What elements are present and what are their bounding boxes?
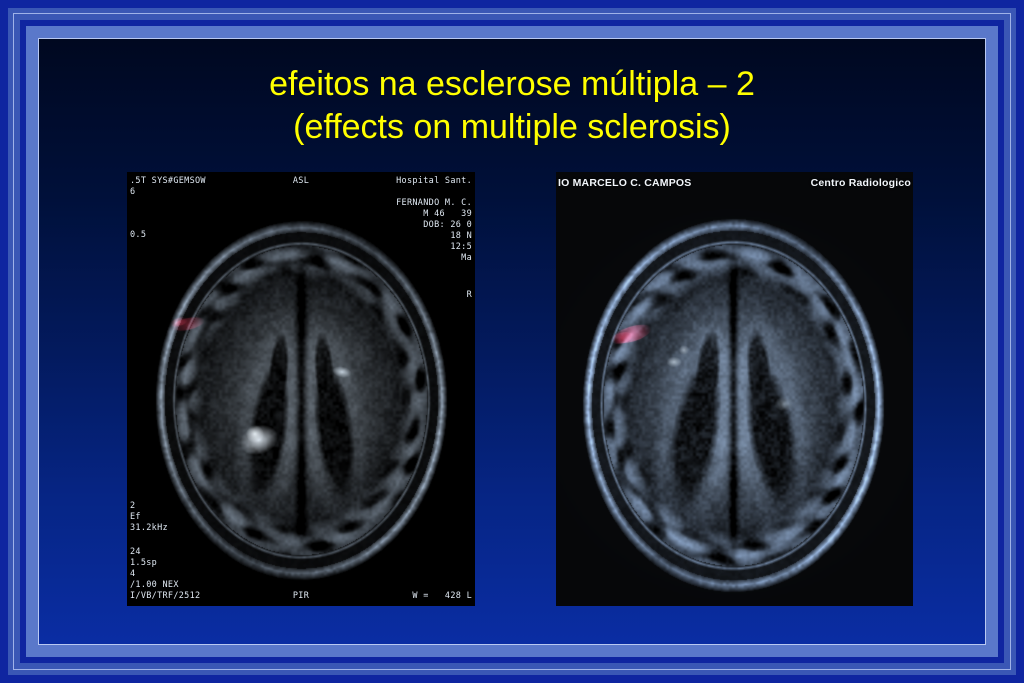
mri-right-canvas (556, 172, 913, 606)
mri-image-left: .5T SYS#GEMSOW6 ASL Hospital Sant.FERNAN… (127, 172, 475, 606)
page-title: efeitos na esclerose múltipla – 2 (effec… (39, 63, 985, 149)
slide: efeitos na esclerose múltipla – 2 (effec… (0, 0, 1024, 683)
page-title-line-1: efeitos na esclerose múltipla – 2 (39, 63, 985, 106)
slide-canvas: efeitos na esclerose múltipla – 2 (effec… (39, 39, 985, 644)
mri-left-canvas (127, 172, 475, 606)
mri-image-right: IO MARCELO C. CAMPOS Centro Radiologico (556, 172, 913, 606)
page-title-line-2: (effects on multiple sclerosis) (39, 106, 985, 149)
